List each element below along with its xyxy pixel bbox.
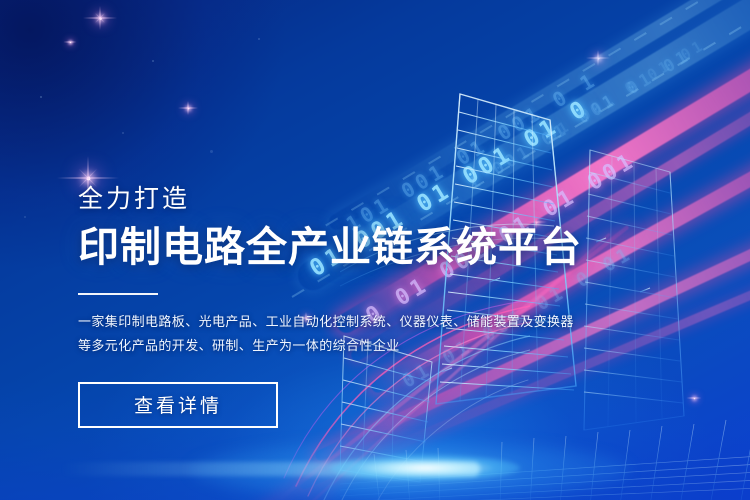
light-burst-tail: [60, 462, 480, 476]
eyebrow-text: 全力打造: [78, 186, 598, 214]
dust-particle: [152, 60, 154, 62]
dust-particle: [210, 150, 213, 153]
dust-particle: [24, 216, 26, 218]
page-title: 印制电路全产业链系统平台: [78, 224, 598, 271]
hero-content: 全力打造 印制电路全产业链系统平台 一家集印制电路板、光电产品、工业自动化控制系…: [78, 186, 598, 428]
description-line: 等多元化产品的开发、研制、生产为一体的综合性企业: [78, 334, 598, 358]
divider: [78, 293, 158, 295]
binary-text: 01 001 0 01 01: [543, 35, 709, 144]
light-burst-halo: [190, 440, 630, 500]
dust-particle: [258, 38, 260, 40]
light-burst-core: [330, 455, 520, 481]
description: 一家集印制电路板、光电产品、工业自动化控制系统、仪器仪表、储能装置及变换器 等多…: [78, 310, 598, 358]
binary-text: 1 001 01 001 01 01: [465, 45, 695, 194]
description-line: 一家集印制电路板、光电产品、工业自动化控制系统、仪器仪表、储能装置及变换器: [78, 310, 598, 334]
dust-particle: [122, 132, 124, 134]
view-details-button[interactable]: 查看详情: [78, 382, 278, 428]
dust-particle: [40, 96, 42, 98]
hero-banner: 101 001 01 001 0 1 01 001 01 001 01 0 0 …: [0, 0, 750, 500]
